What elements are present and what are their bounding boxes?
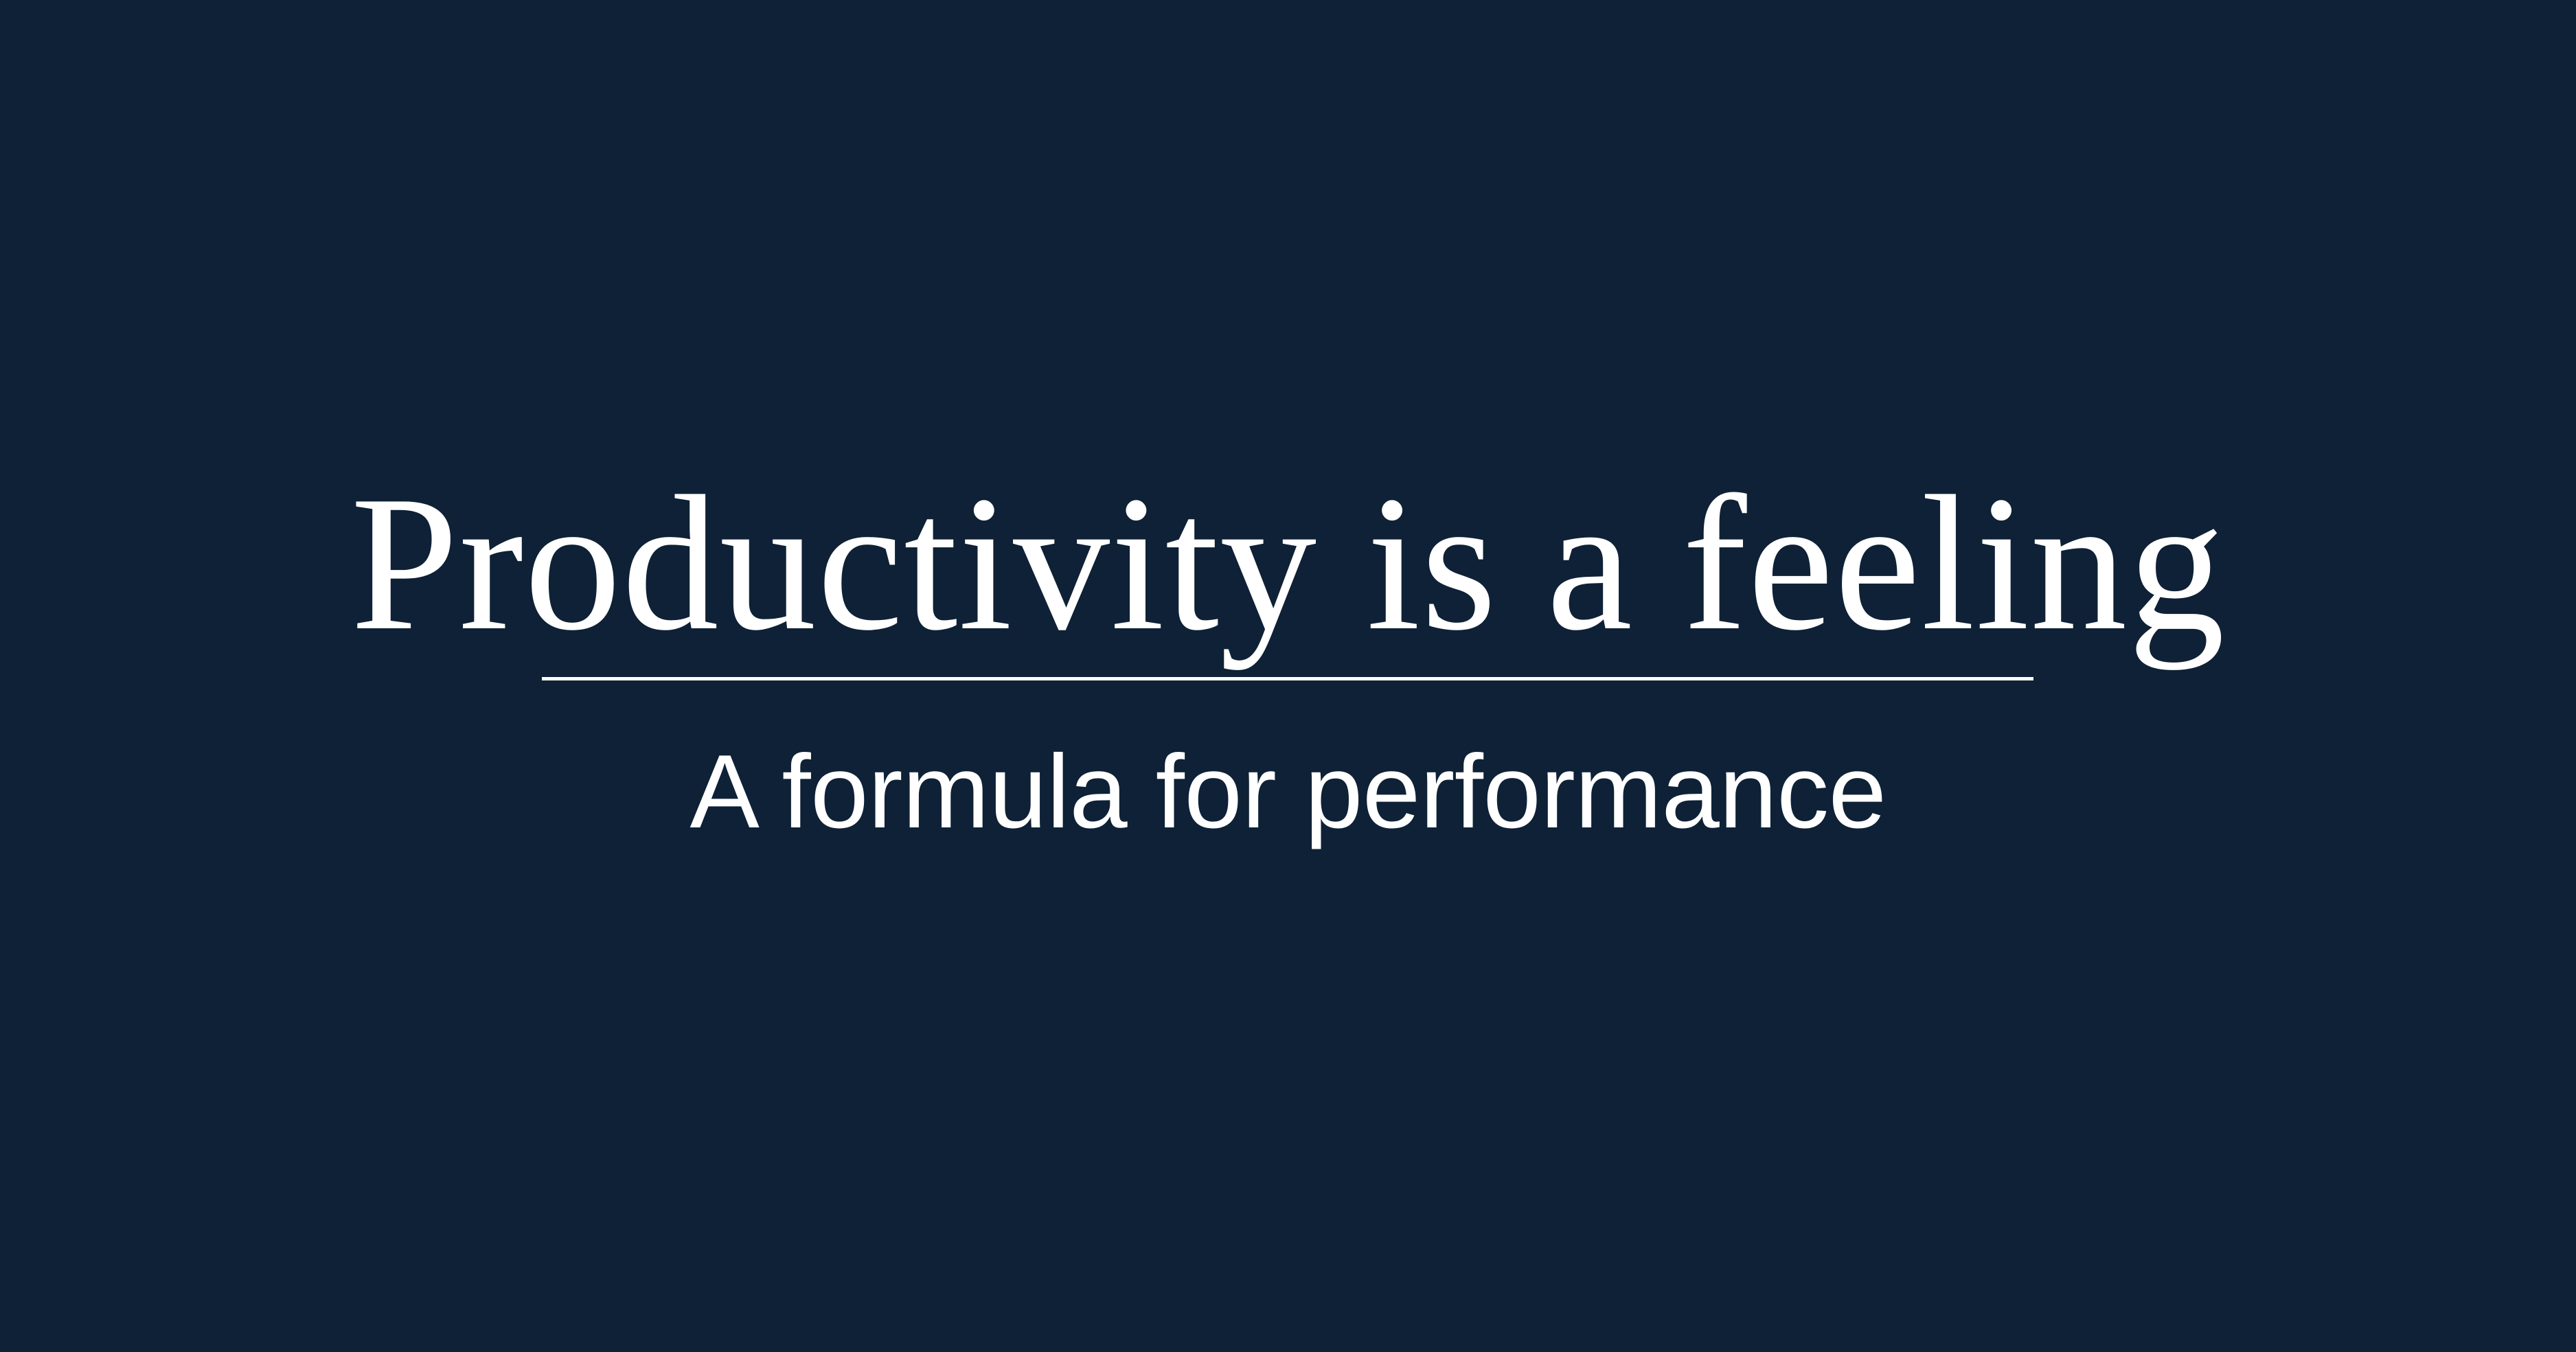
page-title: Productivity is a feeling — [350, 466, 2225, 660]
presentation-slide: Productivity is a feeling A formula for … — [0, 0, 2576, 1352]
slide-content-block: Productivity is a feeling A formula for … — [0, 466, 2576, 844]
title-group: Productivity is a feeling — [350, 466, 2225, 680]
page-subtitle: A formula for performance — [689, 740, 1886, 844]
title-underline-divider — [542, 677, 2033, 680]
